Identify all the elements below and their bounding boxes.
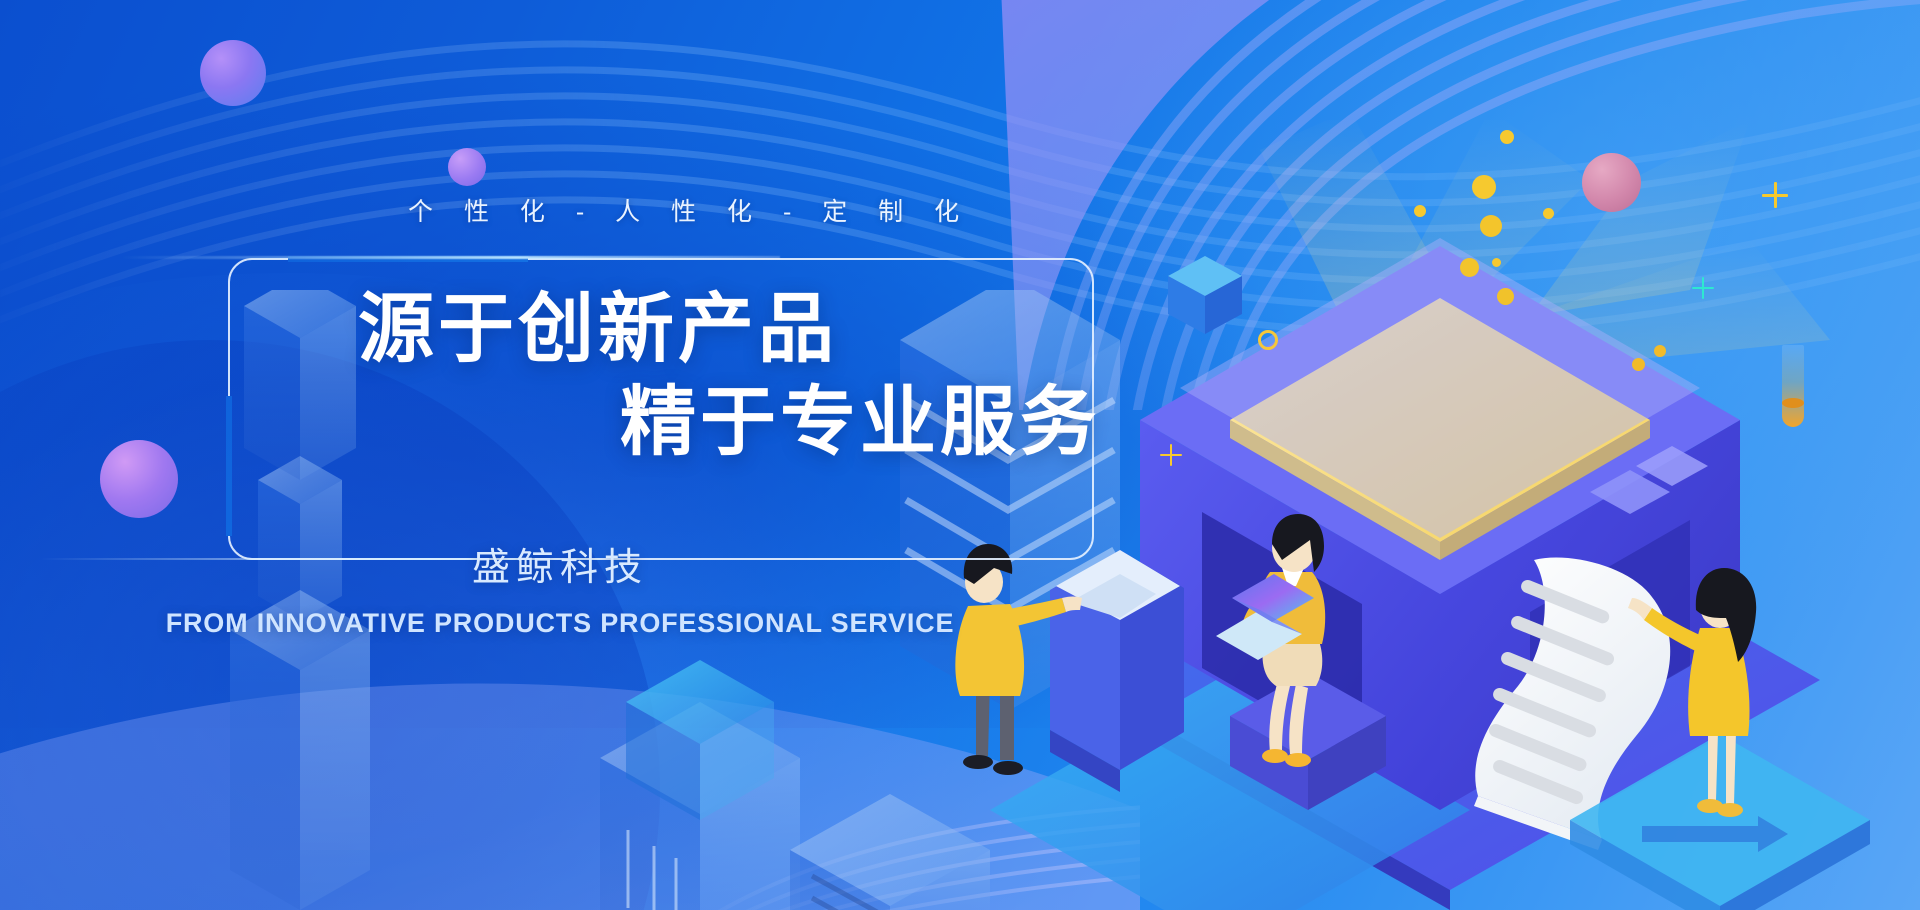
page-title: 源于创新产品 精于专业服务 xyxy=(358,284,1118,469)
orange-cylinder xyxy=(1782,345,1804,427)
yellow-bubble-2 xyxy=(1500,130,1514,144)
yellow-ring xyxy=(1258,330,1278,350)
headline-line-2: 精于专业服务 xyxy=(358,377,1118,470)
yellow-bubble-8 xyxy=(1497,288,1514,305)
yellow-bubble-6 xyxy=(1460,258,1479,277)
yellow-bubble-9 xyxy=(1632,358,1645,371)
yellow-bubble-5 xyxy=(1543,208,1554,219)
hero-banner: 个 性 化 - 人 性 化 - 定 制 化 源于创新产品 精于专业服务 盛鲸科技… xyxy=(0,0,1920,910)
yellow-bubble-1 xyxy=(1472,175,1496,199)
yellow-bubble-4 xyxy=(1480,215,1502,237)
frame-gap-left xyxy=(226,396,232,536)
yellow-bubble-10 xyxy=(1654,345,1666,357)
tagline: 个 性 化 - 人 性 化 - 定 制 化 xyxy=(408,192,971,228)
english-subtitle: FROM INNOVATIVE PRODUCTS PROFESSIONAL SE… xyxy=(0,608,1120,639)
brand-name: 盛鲸科技 xyxy=(0,536,1120,591)
orange-cylinder-top xyxy=(1782,398,1804,408)
hero-text-block: 个 性 化 - 人 性 化 - 定 制 化 源于创新产品 精于专业服务 盛鲸科技… xyxy=(0,0,1200,910)
pink-sphere xyxy=(1582,153,1641,212)
frame-glow-line-top xyxy=(120,256,780,259)
yellow-bubble-3 xyxy=(1414,205,1426,217)
cyan-plus xyxy=(1692,277,1714,299)
yellow-plus-right xyxy=(1762,182,1788,208)
yellow-bubble-7 xyxy=(1492,258,1501,267)
headline-line-1: 源于创新产品 xyxy=(358,284,1118,377)
